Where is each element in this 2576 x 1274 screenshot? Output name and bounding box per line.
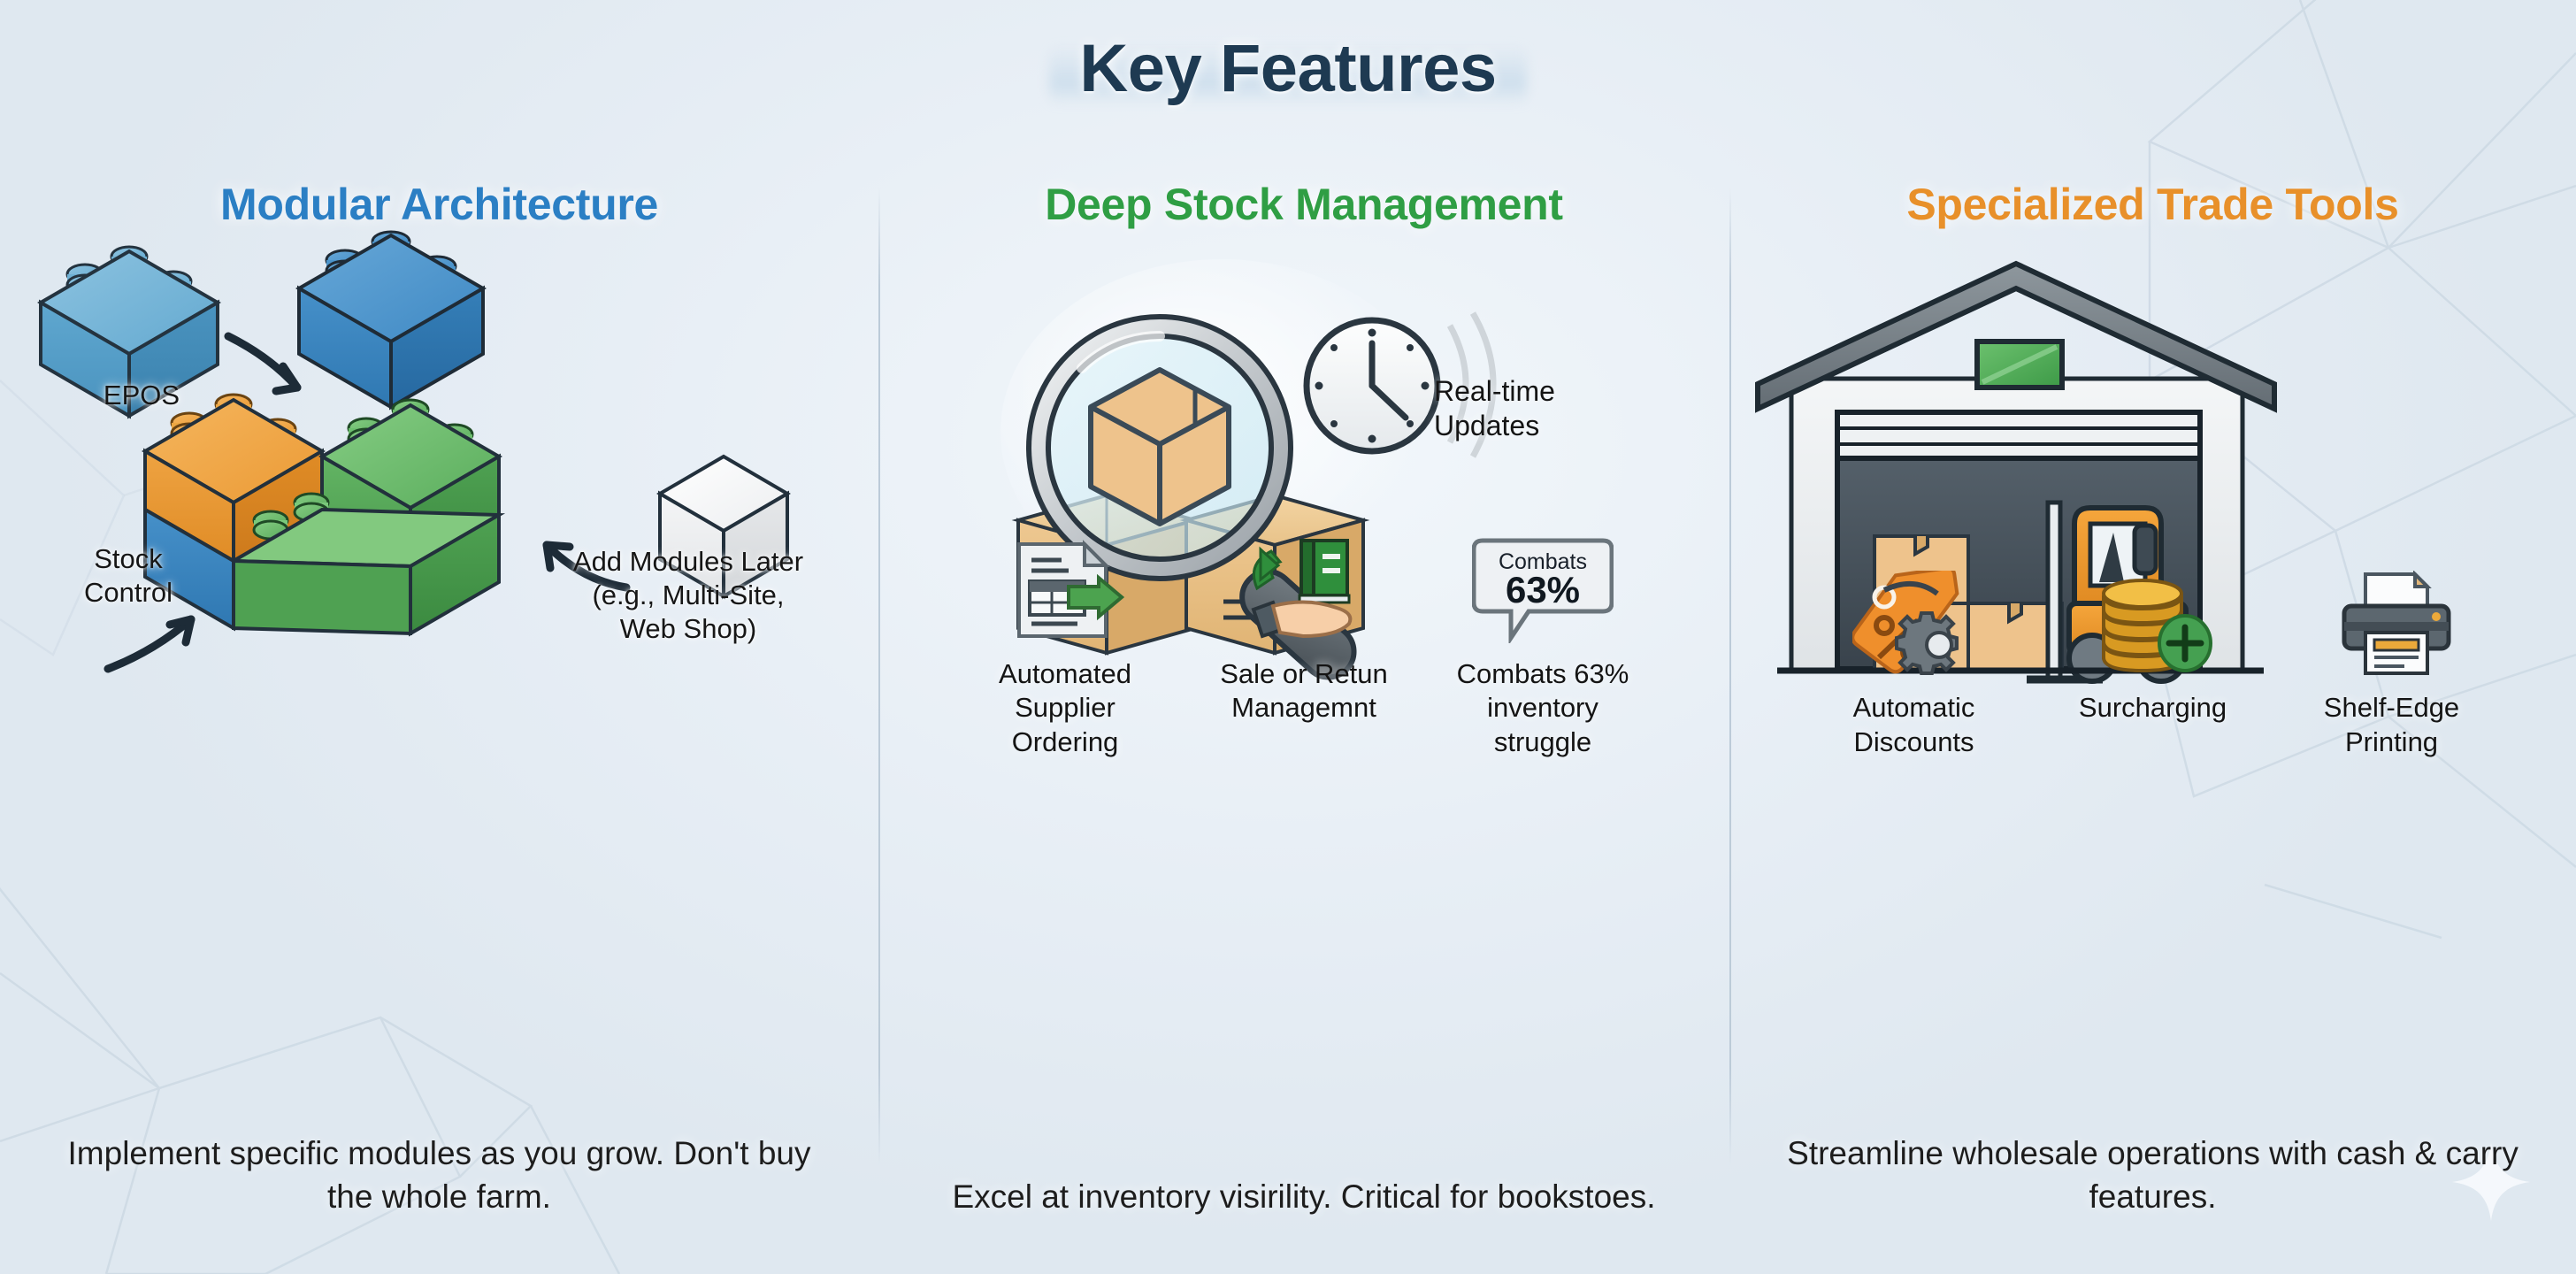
column-caption-specialized-trade-tools: Streamline wholesale operations with cas… bbox=[1764, 1132, 2542, 1239]
speech-bubble-statistic-icon: Combats 63% bbox=[1472, 537, 1614, 643]
feature-surcharging: Surcharging bbox=[2034, 571, 2273, 725]
feature-label: Surcharging bbox=[2079, 691, 2227, 725]
feature-shelf-edge-printing: Shelf-Edge Printing bbox=[2273, 571, 2511, 759]
lego-bricks-diagram: EPOS Stock Control Add Modules Later (e.… bbox=[16, 228, 862, 786]
column-heading-deep-stock-management: Deep Stock Management bbox=[1045, 180, 1563, 228]
warehouse-with-forklift-illustration: Automatic Discounts bbox=[1745, 228, 2560, 759]
lego-illustration-svg bbox=[16, 228, 894, 786]
feature-label: Combats 63% inventory struggle bbox=[1457, 657, 1629, 759]
page-header: Key Features bbox=[0, 21, 2576, 119]
feature-automatic-discounts: Automatic Discounts bbox=[1795, 571, 2034, 759]
real-time-updates-label: Real-time Updates bbox=[1434, 374, 1555, 443]
printer-icon bbox=[2330, 571, 2454, 677]
lego-label-add-modules-later: Add Modules Later (e.g., Multi-Site, Web… bbox=[520, 545, 856, 645]
feature-automated-supplier-ordering: Automated Supplier Ordering bbox=[946, 537, 1184, 759]
column-heading-specialized-trade-tools: Specialized Trade Tools bbox=[1906, 180, 2398, 228]
title-glow-backdrop: Key Features bbox=[1049, 21, 1526, 119]
magnified-box-icon bbox=[1091, 370, 1229, 524]
column-deep-stock-management: Deep Stock Management bbox=[878, 168, 1729, 1239]
feature-triplet-trade: Automatic Discounts bbox=[1745, 571, 2560, 759]
lego-label-epos: EPOS bbox=[62, 379, 221, 412]
feature-label: Sale or Retun Managemnt bbox=[1220, 657, 1388, 725]
feature-triplet-stock: Automated Supplier Ordering bbox=[894, 537, 1713, 759]
coin-stack-plus-icon bbox=[2091, 571, 2215, 677]
bubble-line-2: 63% bbox=[1506, 569, 1580, 610]
lego-label-stock-control: Stock Control bbox=[44, 542, 212, 610]
hand-with-book-return-icon bbox=[1238, 537, 1370, 643]
page-title: Key Features bbox=[1079, 31, 1496, 106]
gear-shape bbox=[1897, 613, 1957, 673]
document-with-arrow-icon bbox=[1003, 537, 1127, 643]
column-modular-architecture: Modular Architecture bbox=[0, 168, 878, 1239]
feature-label: Shelf-Edge Printing bbox=[2324, 691, 2459, 759]
feature-sale-or-return-management: Sale or Retun Managemnt bbox=[1184, 537, 1423, 725]
features-columns: Modular Architecture bbox=[0, 168, 2576, 1239]
green-base-brick bbox=[234, 494, 499, 633]
blue-module-brick bbox=[299, 232, 483, 407]
plus-badge bbox=[2159, 616, 2211, 671]
price-tag-gear-icon bbox=[1852, 571, 1976, 677]
roller-shutter bbox=[1837, 412, 2200, 458]
column-caption-modular-architecture: Implement specific modules as you grow. … bbox=[50, 1132, 829, 1239]
column-caption-deep-stock-management: Excel at inventory visirility. Critical … bbox=[952, 1175, 1655, 1239]
feature-combats-inventory-struggle: Combats 63% Combats 63% inventory strugg… bbox=[1423, 537, 1662, 759]
magnifier-over-boxes-illustration: Real-time Updates bbox=[894, 228, 1713, 759]
feature-label: Automatic Discounts bbox=[1853, 691, 1975, 759]
column-specialized-trade-tools: Specialized Trade Tools bbox=[1729, 168, 2576, 1239]
column-heading-modular-architecture: Modular Architecture bbox=[220, 180, 658, 228]
feature-label: Automated Supplier Ordering bbox=[999, 657, 1131, 759]
